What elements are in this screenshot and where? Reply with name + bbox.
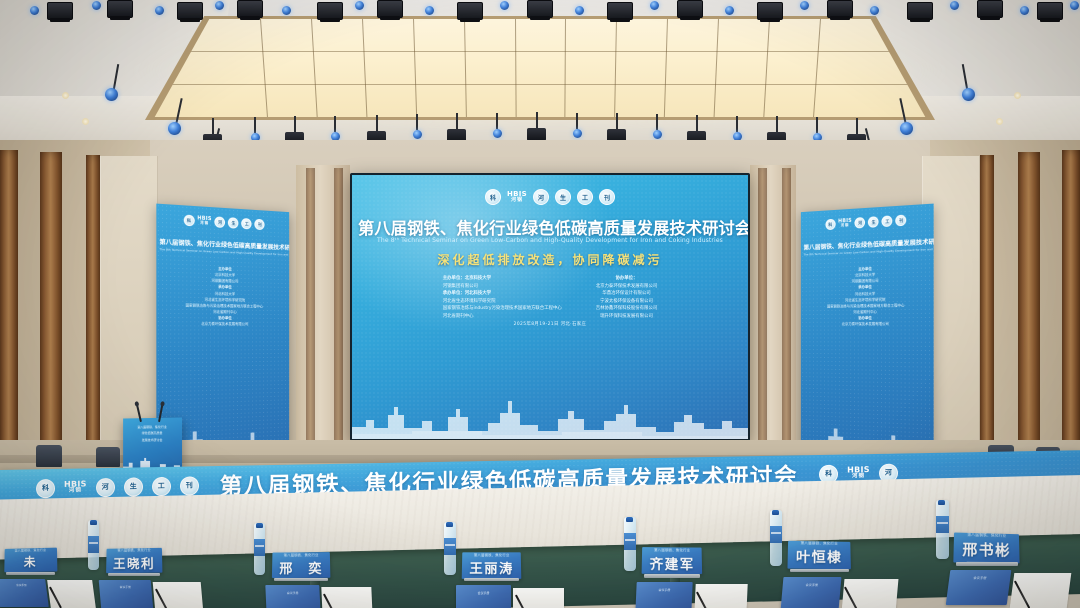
board-body-line: 北京力泰环保技术发展有限公司	[801, 321, 934, 328]
water-bottle	[254, 523, 265, 575]
light-stem	[696, 115, 698, 131]
hbis-wordmark: HBIS河钢	[838, 219, 852, 228]
ceiling-grid-line	[762, 19, 770, 117]
light-stem	[616, 113, 618, 129]
wood-column-far-left	[0, 150, 18, 480]
light-stem	[254, 117, 256, 133]
ceiling-grid-line	[464, 19, 467, 117]
led-par-light	[155, 6, 164, 15]
ceiling-grid-line	[663, 19, 668, 117]
light-stem	[776, 116, 778, 132]
ceiling-grid-line	[811, 19, 821, 117]
light-stem	[212, 118, 214, 134]
name-plate-header: 第八届钢铁、焦化行业	[967, 532, 1006, 538]
water-bottle	[88, 520, 99, 570]
led-par-light	[168, 122, 181, 135]
ustb-logo: 科	[825, 219, 835, 230]
organizer-line: 吉林协鑫环保科技股份有限公司	[596, 305, 657, 313]
name-plate-header: 第八届钢铁、焦化行业	[117, 548, 151, 553]
board-body-line: 北京力泰环保技术发展有限公司	[156, 321, 289, 328]
spotlight-fixture	[377, 0, 403, 18]
hbis-wordmark: HBIS河钢	[847, 466, 870, 480]
led-screen: 科 HBIS 河钢 河 生 工 刊 第八届钢铁、焦化行业绿色低碳高质量发展技术研…	[352, 175, 748, 439]
spotlight-fixture	[527, 0, 553, 18]
conference-booklet: 会议手册	[99, 580, 154, 608]
name-plate-name: 未	[24, 553, 37, 570]
hbis-wordmark: HBIS 河钢	[507, 191, 527, 203]
bottle-label	[88, 536, 99, 553]
ceiling-grid-line	[565, 19, 567, 117]
name-plate-base	[108, 573, 160, 576]
conference-booklet: 会议手册	[635, 582, 693, 608]
name-plate: 第八届钢铁、焦化行业邢 奕	[272, 552, 331, 578]
name-plate: 第八届钢铁、焦化行业叶恒棣	[787, 541, 850, 569]
name-plate-base	[274, 578, 328, 581]
wood-trim-left-2	[334, 168, 343, 460]
name-plate-name: 王丽涛	[469, 558, 514, 577]
bottle-cap	[90, 520, 97, 525]
conference-booklet: 会议手册	[781, 577, 842, 608]
bottle-label	[624, 533, 636, 550]
organizer-line: 国家钢铁冶炼与industry污染治理技术国家地方联合工程中心	[443, 305, 562, 313]
name-plate-base	[6, 572, 55, 575]
led-par-light	[650, 1, 659, 10]
name-plate-base	[956, 562, 1018, 566]
led-par-light	[355, 1, 364, 10]
name-plate-header: 第八届钢铁、焦化行业	[474, 552, 510, 557]
spotlight-fixture	[607, 2, 633, 20]
light-stem	[376, 115, 378, 131]
ceiling-grid-line	[362, 19, 369, 117]
ustb-logo: 科	[485, 189, 501, 205]
light-stem	[496, 113, 498, 129]
ceiling-grid-line	[614, 19, 617, 117]
spotlight-fixture	[457, 2, 483, 20]
water-bottle	[444, 522, 456, 575]
spotlight-fixture	[237, 0, 263, 18]
spotlight-fixture	[317, 2, 343, 20]
spotlight-fixture	[1037, 2, 1063, 20]
light-stem	[856, 118, 858, 134]
wood-trim-right-2	[782, 168, 791, 460]
board-body-right: 主办单位北京科技大学河钢集团有限公司承办单位河北科技大学河北省生态环境科学研究院…	[801, 264, 934, 328]
downlight	[82, 118, 89, 125]
eco-institute-logo: 生	[555, 189, 571, 205]
spotlight-fixture	[177, 2, 203, 20]
bottle-cap	[772, 510, 779, 515]
downlight	[62, 92, 69, 99]
led-par-light	[725, 6, 734, 15]
booklet-caption: 会议手册	[0, 584, 46, 588]
booklet-caption: 会议手册	[456, 591, 511, 595]
board-body-left: 主办单位北京科技大学河钢集团有限公司承办单位河北科技大学河北省生态环境科学研究院…	[156, 264, 289, 328]
eco-institute-logo: 生	[228, 217, 238, 229]
led-par-light	[105, 88, 118, 101]
name-plate-name: 齐建军	[649, 553, 694, 573]
organizer-line: 河北省期刊中心	[443, 313, 562, 321]
organizer-line: 河北省生态环境科学研究院	[443, 298, 562, 306]
wood-column-right-a	[1018, 152, 1040, 474]
booklet-caption: 会议手册	[266, 591, 320, 595]
light-stem	[816, 117, 818, 133]
light-stem	[536, 112, 538, 128]
bottle-label	[770, 526, 782, 543]
name-plate-base	[464, 578, 519, 581]
spotlight-fixture	[757, 2, 783, 20]
booklet-caption: 会议手册	[949, 577, 1011, 582]
led-par-light	[870, 6, 879, 15]
led-par-light	[500, 1, 509, 10]
hbis-wordmark: HBIS河钢	[64, 481, 87, 495]
led-par-light	[962, 88, 975, 101]
light-stem	[456, 113, 458, 129]
wood-column-left-b	[86, 155, 100, 467]
spotlight-fixture	[907, 2, 933, 20]
ceiling-grid-line	[150, 51, 930, 52]
led-par-light	[573, 129, 582, 138]
organizer-line: 主办单位：北京科技大学	[443, 275, 562, 283]
journal-center-logo: 刊	[896, 215, 907, 227]
light-stem	[334, 116, 336, 132]
conference-booklet: 会议手册	[0, 579, 49, 607]
organizer-line: 宁波太极环保设备有限公司	[596, 298, 657, 306]
water-bottle	[624, 517, 636, 571]
led-par-light	[215, 1, 224, 10]
engineering-center-logo: 工	[242, 218, 252, 229]
name-plate: 第八届钢铁、焦化行业王丽涛	[462, 552, 522, 578]
ceiling-light-panel	[150, 19, 930, 117]
screen-organizer-block: 主办单位：北京科技大学河钢集团有限公司承办单位：河北科技大学河北省生态环境科学研…	[352, 275, 748, 320]
name-plate-name: 邢 奕	[279, 557, 323, 576]
conference-hall-photo: 科 HBIS 河钢 河 生 工 刊 第八届钢铁、焦化行业绿色低碳高质量发展技术研…	[0, 0, 1080, 608]
name-plate: 第八届钢铁、焦化行业邢书彬	[953, 532, 1019, 562]
led-par-light	[282, 6, 291, 15]
ceiling-grid-line	[413, 19, 418, 117]
booklet-caption: 会议手册	[783, 583, 842, 588]
bottle-cap	[446, 522, 453, 527]
screen-slogan: 深化超低排放改造，协同降碳减污	[352, 251, 748, 268]
podium-text: 第八届钢铁、焦化行业绿色低碳高质量发展技术研讨会	[123, 424, 182, 443]
led-par-light	[493, 129, 502, 138]
water-bottle	[770, 510, 782, 566]
spotlight-fixture	[827, 0, 853, 18]
wood-column-right-b	[980, 155, 994, 467]
hebust-logo: 河	[215, 216, 226, 228]
ceiling-grid-line	[515, 19, 517, 117]
name-plate: 第八届钢铁、焦化行业齐建军	[642, 547, 703, 574]
screen-date-line: 2025年8月19-21日 河北·石家庄	[352, 321, 748, 327]
organizer-line: 北京力泰环保技术发展有限公司	[596, 283, 657, 291]
spotlight-fixture	[677, 0, 703, 18]
name-plate-name: 王晓利	[113, 553, 155, 572]
journal-center-logo: 刊	[255, 219, 265, 230]
bottle-label	[444, 538, 456, 555]
spotlight-fixture	[977, 0, 1003, 18]
hebust-logo: 河	[855, 217, 866, 229]
screen-title-cn: 第八届钢铁、焦化行业绿色低碳高质量发展技术研讨会	[358, 215, 742, 239]
led-par-light	[92, 1, 101, 10]
bottle-cap	[626, 517, 633, 522]
organizer-heading: 协办单位：	[596, 275, 657, 283]
wood-column-far-right	[1062, 150, 1080, 480]
organizer-line: 瑞升环保科技发展有限公司	[596, 313, 657, 321]
skyline-graphic	[352, 387, 748, 439]
spotlight-fixture	[107, 0, 133, 18]
light-stem	[736, 116, 738, 132]
booklet-caption: 会议手册	[636, 588, 692, 593]
name-plate-name: 叶恒棣	[796, 547, 843, 567]
led-par-light	[30, 6, 39, 15]
name-plate-header: 第八届钢铁、焦化行业	[801, 541, 838, 546]
led-par-light	[425, 6, 434, 15]
ustb-logo: 科	[183, 215, 194, 227]
light-stem	[416, 114, 418, 130]
wood-trim-right	[758, 168, 767, 460]
screen-title-en: The 8ᵗʰ Technical Seminar on Green Low-C…	[360, 237, 740, 244]
eco-institute-logo: 生	[868, 216, 879, 228]
led-par-light	[900, 122, 913, 135]
name-plate-base	[644, 574, 700, 577]
spotlight-fixture	[47, 2, 73, 20]
hbis-wordmark: HBIS河钢	[197, 217, 211, 226]
ceiling-grid-line	[713, 19, 720, 117]
downlight	[1014, 92, 1021, 99]
downlight	[996, 118, 1003, 125]
organizer-line: 华鼎冶环保设计有限公司	[596, 290, 657, 298]
light-stem	[294, 116, 296, 132]
podium-text-line: 发展技术研讨会	[123, 436, 182, 442]
name-plate: 第八届钢铁、焦化行业未	[4, 548, 57, 572]
bottle-cap	[938, 500, 945, 505]
name-plate: 第八届钢铁、焦化行业王晓利	[106, 548, 162, 573]
journal-center-logo: 刊	[180, 476, 199, 495]
stage-chair-1	[36, 445, 62, 467]
organizer-line: 承办单位：河北科技大学	[443, 290, 562, 298]
hebust-logo: 河	[533, 189, 549, 205]
ceiling-grid-line	[150, 84, 930, 85]
bottle-label	[254, 539, 265, 556]
led-par-light	[1070, 1, 1079, 10]
wood-trim-left	[306, 168, 315, 460]
screen-logo-row: 科 HBIS 河钢 河 生 工 刊	[352, 189, 748, 205]
right-banner-board: 科 HBIS河钢 河 生 工 刊 第八届钢铁、焦化行业绿色低碳高质量发展技术研讨…	[801, 204, 934, 465]
engineering-center-logo: 工	[882, 215, 893, 227]
name-plate-base	[790, 569, 849, 572]
conference-booklet: 会议手册	[946, 570, 1012, 605]
name-plate-header: 第八届钢铁、焦化行业	[284, 552, 319, 557]
led-par-light	[575, 6, 584, 15]
eco-institute-logo: 生	[124, 477, 143, 496]
conference-booklet: 会议手册	[265, 585, 320, 608]
journal-center-logo: 刊	[599, 189, 615, 205]
led-par-light	[800, 1, 809, 10]
organizer-line: 河钢集团有限公司	[443, 283, 562, 291]
hebust-logo: 河	[96, 477, 115, 496]
organizers-left-column: 主办单位：北京科技大学河钢集团有限公司承办单位：河北科技大学河北省生态环境科学研…	[443, 275, 562, 320]
conference-booklet: 会议手册	[456, 585, 511, 608]
engineering-center-logo: 工	[577, 189, 593, 205]
name-plate-header: 第八届钢铁、焦化行业	[654, 547, 690, 552]
water-bottle	[936, 500, 949, 559]
ceiling-grid-line	[311, 19, 319, 117]
bottle-cap	[256, 523, 263, 528]
ustb-logo: 科	[36, 478, 55, 497]
wood-column-left-a	[40, 152, 62, 474]
booklet-caption: 会议手册	[99, 585, 151, 589]
bottle-label	[936, 516, 949, 533]
led-par-light	[1020, 6, 1029, 15]
light-stem	[576, 113, 578, 129]
led-par-light	[950, 1, 959, 10]
organizers-right-column: 协办单位：北京力泰环保技术发展有限公司华鼎冶环保设计有限公司宁波太极环保设备有限…	[596, 275, 657, 320]
name-plate-name: 邢书彬	[962, 538, 1011, 560]
light-stem	[656, 114, 658, 130]
ceiling-grid-line	[260, 19, 270, 117]
stage-chair-2	[96, 447, 120, 467]
podium: 第八届钢铁、焦化行业绿色低碳高质量发展技术研讨会	[123, 417, 182, 472]
engineering-center-logo: 工	[152, 476, 171, 495]
